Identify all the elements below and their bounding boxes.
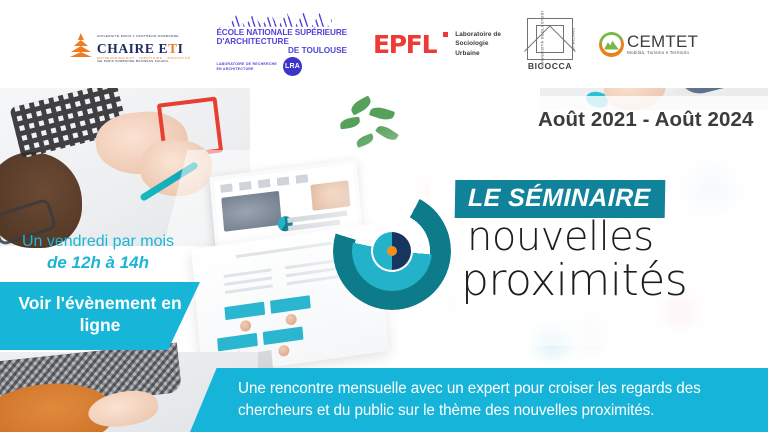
- logo-cemtet: CEMTET Mobilità, Turismo e Territorio: [599, 32, 698, 57]
- logo-ensa-toulouse: ÉCOLE NATIONALE SUPÉRIEURE D'ARCHITECTUR…: [216, 12, 347, 77]
- epfl-wordmark: EPFL: [373, 32, 436, 57]
- cemtet-mountain-icon: [599, 32, 624, 57]
- seminar-badge: LE SÉMINAIRE: [455, 180, 665, 218]
- ensa-line-3: DE TOULOUSE: [288, 46, 347, 55]
- logo-epfl: EPFL Laboratoire de Sociologie Urbaine: [373, 30, 501, 58]
- logo-orange-dot: [387, 246, 397, 256]
- date-range: Août 2021 - Août 2024: [538, 108, 754, 132]
- schedule-info: Un vendredi par mois de 12h à 14h: [0, 232, 196, 274]
- schedule-time: de 12h à 14h: [0, 252, 196, 274]
- epfl-lab-name: Laboratoire de Sociologie Urbaine: [455, 30, 501, 58]
- view-event-online-button[interactable]: Voir l'évènement en ligne: [0, 282, 200, 350]
- brand-line-1: nouvelles: [467, 218, 687, 257]
- brand-line-2: proximités: [461, 259, 687, 304]
- ensa-line-2: D'ARCHITECTURE: [216, 37, 288, 46]
- bicocca-crest-icon: UNIVERSITÀ DEGLI STUDI DI MILANO: [527, 18, 573, 60]
- description-banner: Une rencontre mensuelle avec un expert p…: [190, 368, 768, 432]
- schedule-frequency: Un vendredi par mois: [0, 232, 196, 252]
- chaire-eti-name: CHAIRE ETI: [97, 42, 191, 56]
- ensa-sawtooth-roof-icon: [228, 12, 332, 27]
- logo-universita-milano-bicocca: UNIVERSITÀ DEGLI STUDI DI MILANO BICOCCA: [527, 18, 573, 71]
- cemtet-wordmark: CEMTET: [627, 33, 698, 50]
- chaire-eti-top-line: UNIVERSITÉ PARIS 1 PANTHÉON-SORBONNE: [97, 34, 179, 38]
- chaire-eti-pyramid-icon: [70, 31, 92, 57]
- logo-chaire-eti: UNIVERSITÉ PARIS 1 PANTHÉON-SORBONNE CHA…: [70, 25, 191, 63]
- brand-title: nouvelles proximités: [467, 218, 687, 304]
- ensa-lab-lines: LABORATOIRE DE RECHERCHE EN ARCHITECTURE: [216, 62, 277, 72]
- description-text: Une rencontre mensuelle avec un expert p…: [190, 378, 768, 421]
- lra-badge: LRA: [283, 57, 302, 76]
- cemtet-subtitle: Mobilità, Turismo e Territorio: [627, 51, 698, 56]
- bicocca-name: BICOCCA: [528, 61, 572, 71]
- ensa-line-1: ÉCOLE NATIONALE SUPÉRIEURE: [216, 28, 347, 37]
- chaire-eti-bottom-line: IAE PARIS SORBONNE BUSINESS SCHOOL: [97, 60, 191, 63]
- bicocca-vertical-right: DI MILANO: [571, 27, 575, 50]
- seminar-poster: UNIVERSITÉ PARIS 1 PANTHÉON-SORBONNE CHA…: [0, 0, 768, 432]
- partner-logo-bar: UNIVERSITÉ PARIS 1 PANTHÉON-SORBONNE CHA…: [0, 0, 768, 88]
- nouvelles-proximites-logo-icon: [333, 192, 451, 310]
